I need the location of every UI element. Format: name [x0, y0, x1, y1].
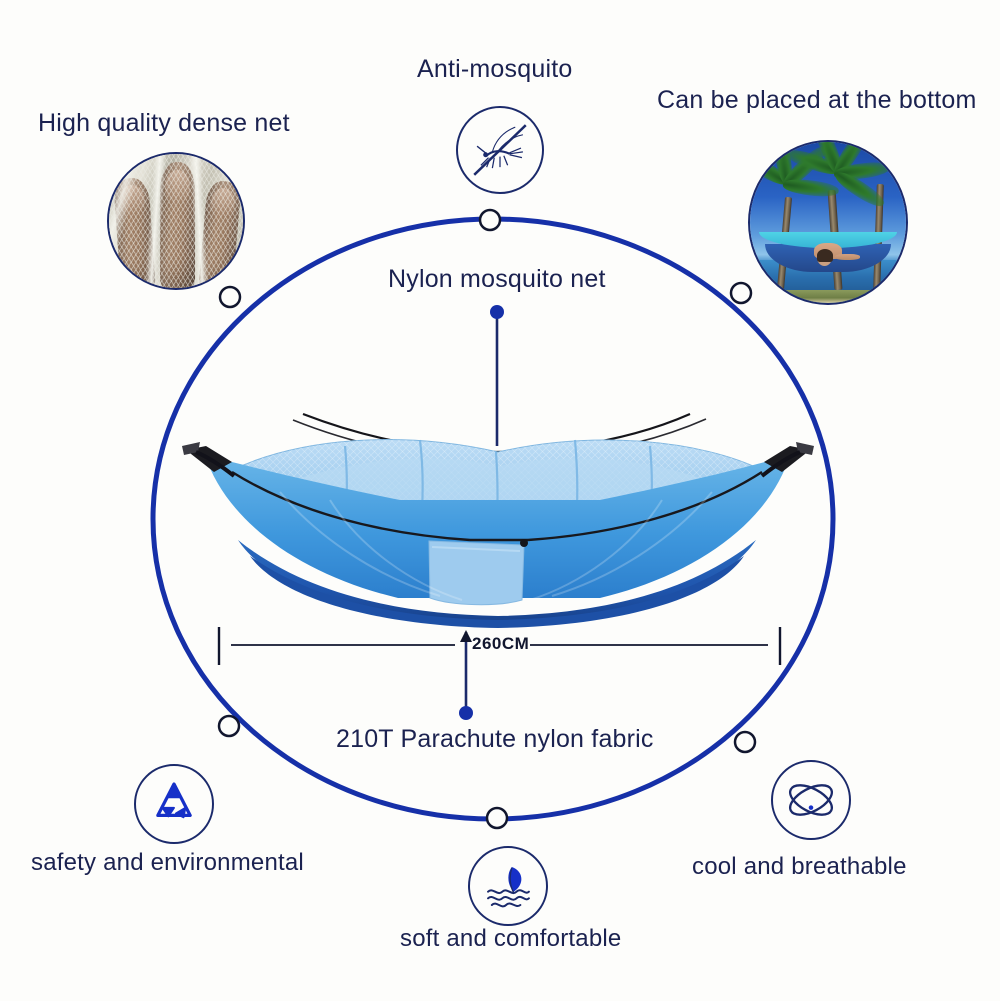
person-hair	[817, 249, 833, 262]
leader-nylon-mosquito-net	[490, 305, 504, 446]
label-high-quality-dense-net: High quality dense net	[38, 111, 290, 136]
label-parachute-nylon-fabric: 210T Parachute nylon fabric	[336, 727, 654, 752]
infographic-canvas: High quality dense net Anti-mosquito Can…	[0, 0, 1000, 1001]
dimension-label-260cm: 260CM	[472, 634, 529, 654]
airflow-ellipses-icon	[771, 760, 851, 840]
pocket-toggle	[520, 539, 528, 547]
net-fingers-photo	[107, 152, 245, 290]
mesh-texture-overlay	[109, 154, 243, 288]
node-lower-right-marker	[735, 732, 755, 752]
person-legs	[835, 254, 860, 260]
label-safety-and-environmental: safety and environmental	[31, 851, 304, 875]
leader-parachute-fabric	[459, 630, 473, 720]
beach-hammock	[759, 232, 896, 271]
node-bottom-marker	[487, 808, 507, 828]
node-lower-left-marker	[219, 716, 239, 736]
node-upper-right-marker	[731, 283, 751, 303]
label-anti-mosquito: Anti-mosquito	[417, 57, 572, 82]
beach-hammock-photo	[748, 140, 908, 305]
node-top-marker	[480, 210, 500, 230]
recycle-triangle-icon	[134, 764, 214, 844]
airflow-glyph	[786, 779, 837, 821]
leaf-water-icon	[468, 846, 548, 926]
airflow-center-dot	[809, 805, 814, 810]
label-nylon-mosquito-net: Nylon mosquito net	[388, 267, 606, 292]
label-cool-and-breathable: cool and breathable	[692, 855, 907, 879]
storage-pocket	[429, 541, 524, 605]
shoreline	[750, 290, 906, 303]
no-mosquito-icon	[456, 106, 544, 194]
node-upper-left-marker	[220, 287, 240, 307]
recycle-glyph	[158, 784, 190, 817]
water-waves-glyph	[488, 890, 529, 906]
label-soft-and-comfortable: soft and comfortable	[400, 927, 621, 951]
product-hammock	[182, 414, 814, 628]
label-can-be-placed-at-the-bottom: Can be placed at the bottom	[657, 88, 977, 113]
carabiner-right	[762, 442, 814, 476]
carabiner-left	[182, 442, 234, 476]
